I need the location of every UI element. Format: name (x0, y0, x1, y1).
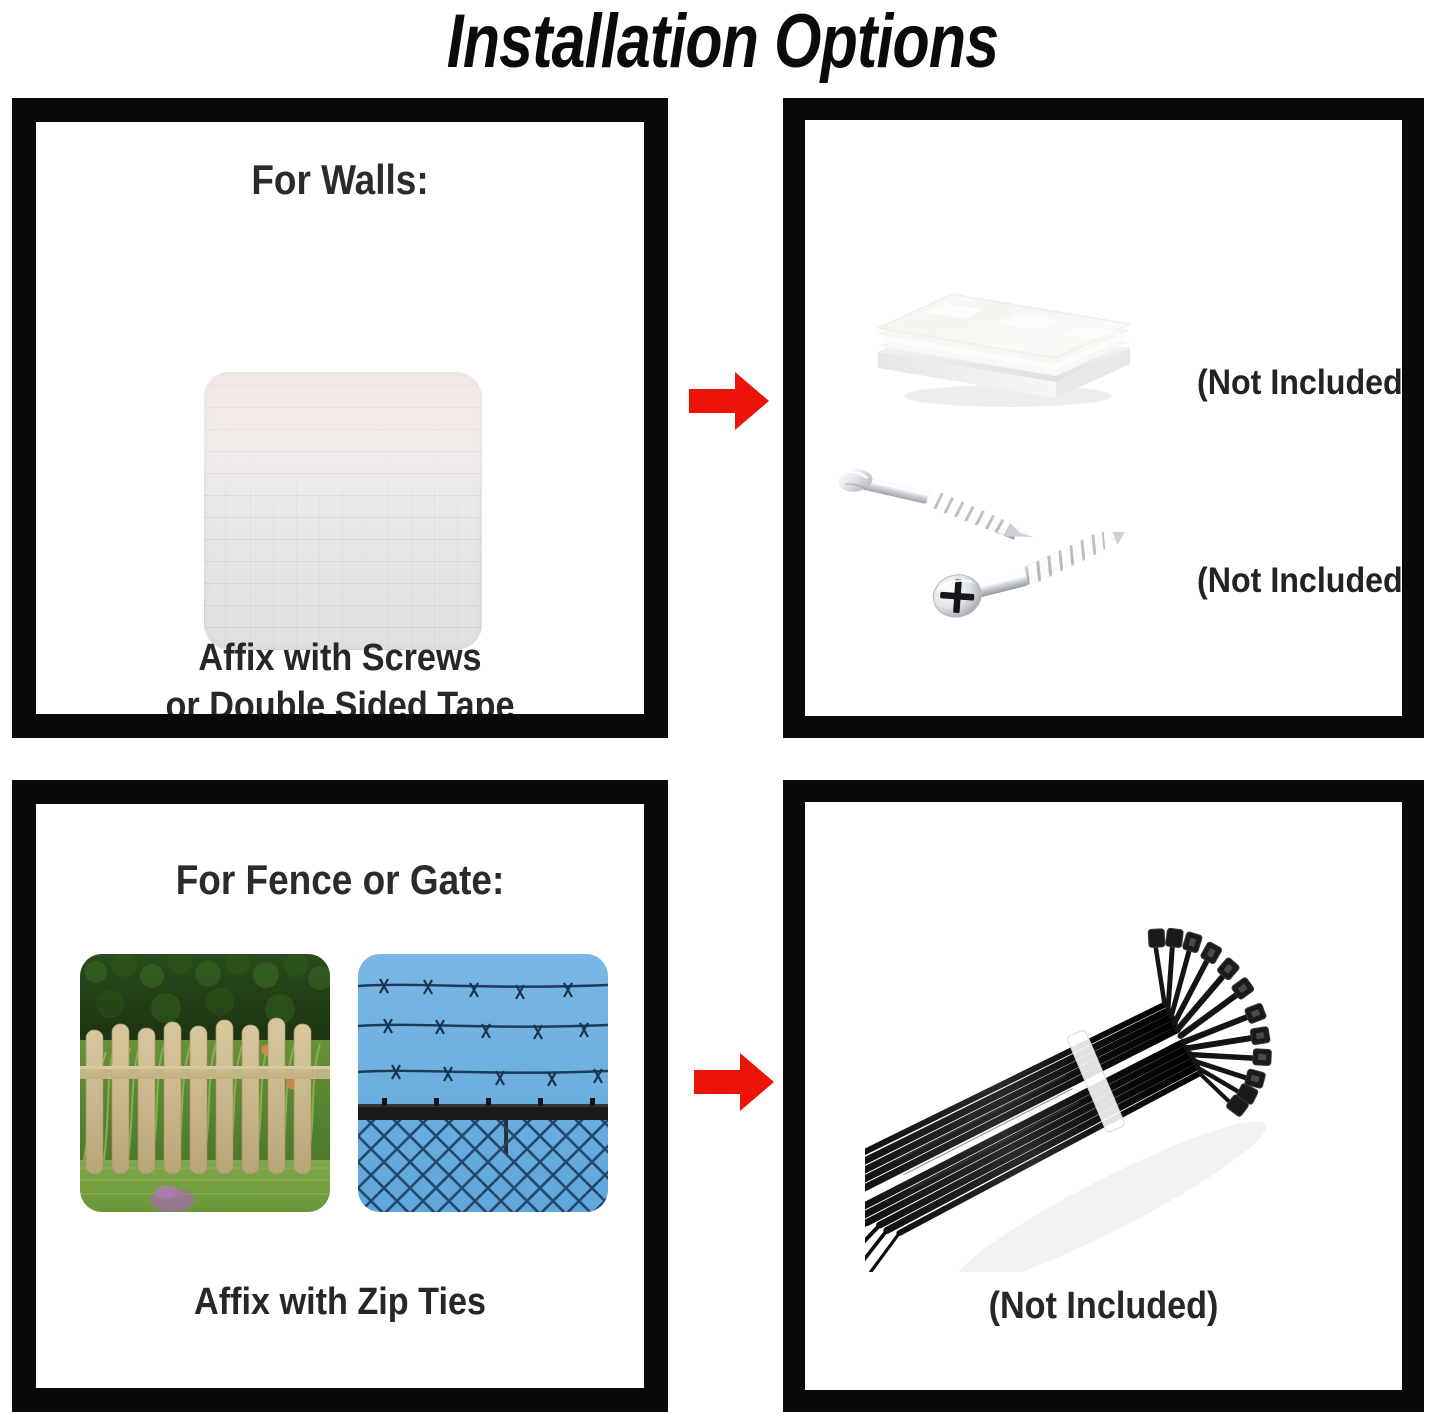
arrow-right-icon-top (687, 369, 771, 433)
double-sided-tape-stack-image (868, 248, 1134, 408)
arrow-right-icon-bottom (692, 1050, 776, 1114)
panel-zip-ties: (Not Included) (783, 780, 1424, 1412)
for-fence-caption: Affix with Zip Ties (66, 1278, 613, 1327)
chain-link-barbed-wire-photo (358, 954, 608, 1212)
panel-zip-ties-content: (Not Included) (805, 802, 1402, 1390)
wood-screw-image-2 (925, 532, 1159, 618)
for-walls-heading: For Walls: (72, 156, 607, 204)
tape-not-included-label: (Not Included) (1197, 363, 1402, 403)
panel-for-walls: For Walls: Affix with Screws or Double S… (12, 98, 668, 738)
white-brick-wall-image (204, 372, 482, 650)
for-fence-heading: For Fence or Gate: (72, 856, 607, 904)
zip-ties-not-included-label: (Not Included) (835, 1282, 1372, 1331)
black-zip-tie-bundle-image (865, 902, 1335, 1272)
wall-top-tint (204, 372, 482, 650)
panel-wall-hardware-content: (Not Included) (805, 120, 1402, 716)
screws-not-included-label: (Not Included) (1197, 561, 1402, 601)
for-walls-caption-line2: or Double Sided Tape (66, 682, 613, 714)
panel-for-fence-or-gate: For Fence or Gate: (12, 780, 668, 1412)
page-title: Installation Options (145, 0, 1301, 85)
installation-options-infographic: Installation Options For Walls: Affix wi… (0, 0, 1445, 1422)
wooden-picket-fence-photo (80, 954, 330, 1212)
wood-screw-image-1 (837, 463, 1067, 543)
panel-wall-hardware: (Not Included) (783, 98, 1424, 738)
for-walls-caption-line1: Affix with Screws (66, 634, 613, 683)
panel-for-walls-content: For Walls: Affix with Screws or Double S… (36, 122, 644, 714)
panel-for-fence-content: For Fence or Gate: (36, 804, 644, 1388)
